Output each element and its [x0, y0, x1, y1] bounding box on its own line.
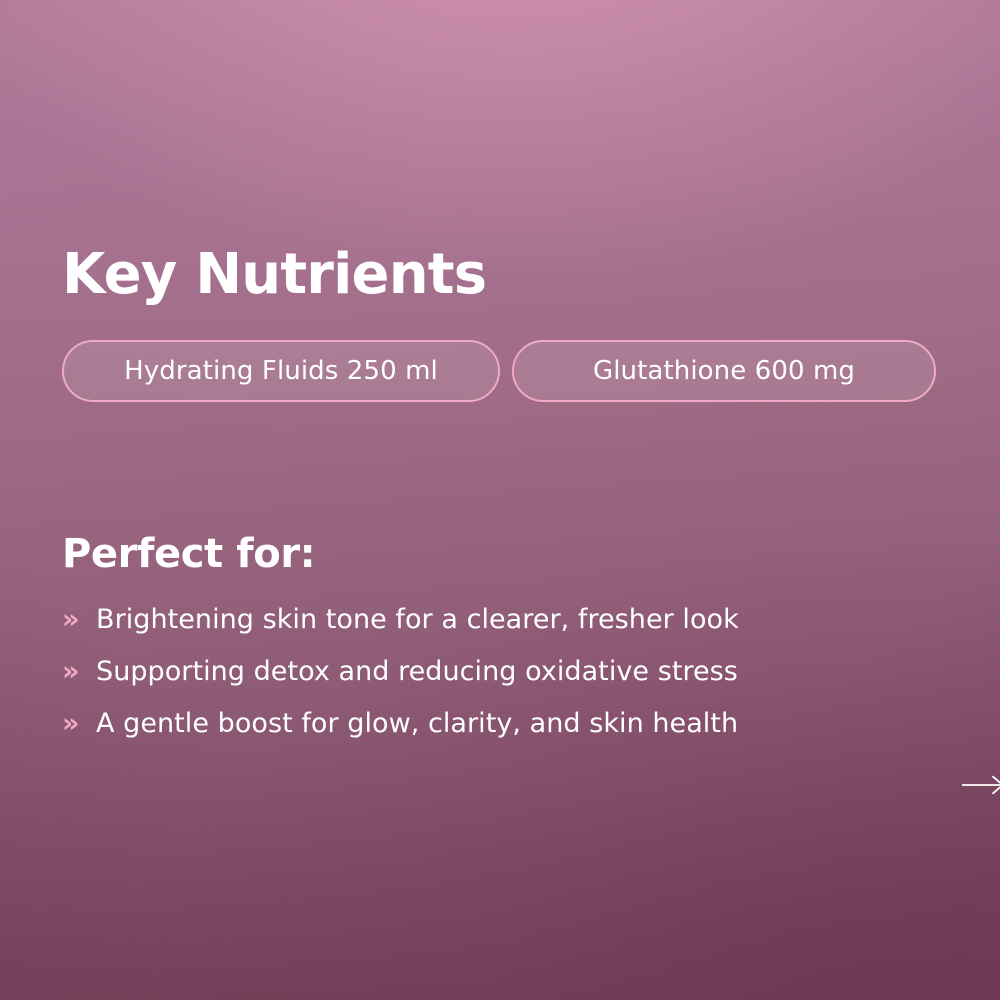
benefit-label: Supporting detox and reducing oxidative …	[96, 655, 738, 689]
next-slide-button[interactable]	[960, 770, 1000, 800]
nutrient-pill-label: Hydrating Fluids 250 ml	[124, 356, 438, 386]
benefit-label: Brightening skin tone for a clearer, fre…	[96, 603, 739, 637]
nutrient-pill-label: Glutathione 600 mg	[593, 356, 855, 386]
double-chevron-right-icon: »	[62, 603, 96, 637]
slide-root: Key Nutrients Hydrating Fluids 250 ml Gl…	[0, 0, 1000, 1000]
benefit-list: » Brightening skin tone for a clearer, f…	[62, 603, 739, 759]
nutrient-pill-glutathione[interactable]: Glutathione 600 mg	[512, 340, 936, 402]
nutrient-pill-hydrating-fluids[interactable]: Hydrating Fluids 250 ml	[62, 340, 500, 402]
nutrient-pill-row: Hydrating Fluids 250 ml Glutathione 600 …	[62, 340, 936, 402]
list-item: » A gentle boost for glow, clarity, and …	[62, 707, 739, 759]
arrow-right-icon	[960, 774, 1000, 796]
list-item: » Brightening skin tone for a clearer, f…	[62, 603, 739, 655]
perfect-for-heading: Perfect for:	[62, 529, 315, 579]
key-nutrients-heading: Key Nutrients	[62, 243, 486, 307]
benefit-label: A gentle boost for glow, clarity, and sk…	[96, 707, 738, 741]
list-item: » Supporting detox and reducing oxidativ…	[62, 655, 739, 707]
slide-content: Key Nutrients Hydrating Fluids 250 ml Gl…	[62, 0, 962, 1000]
double-chevron-right-icon: »	[62, 707, 96, 741]
double-chevron-right-icon: »	[62, 655, 96, 689]
